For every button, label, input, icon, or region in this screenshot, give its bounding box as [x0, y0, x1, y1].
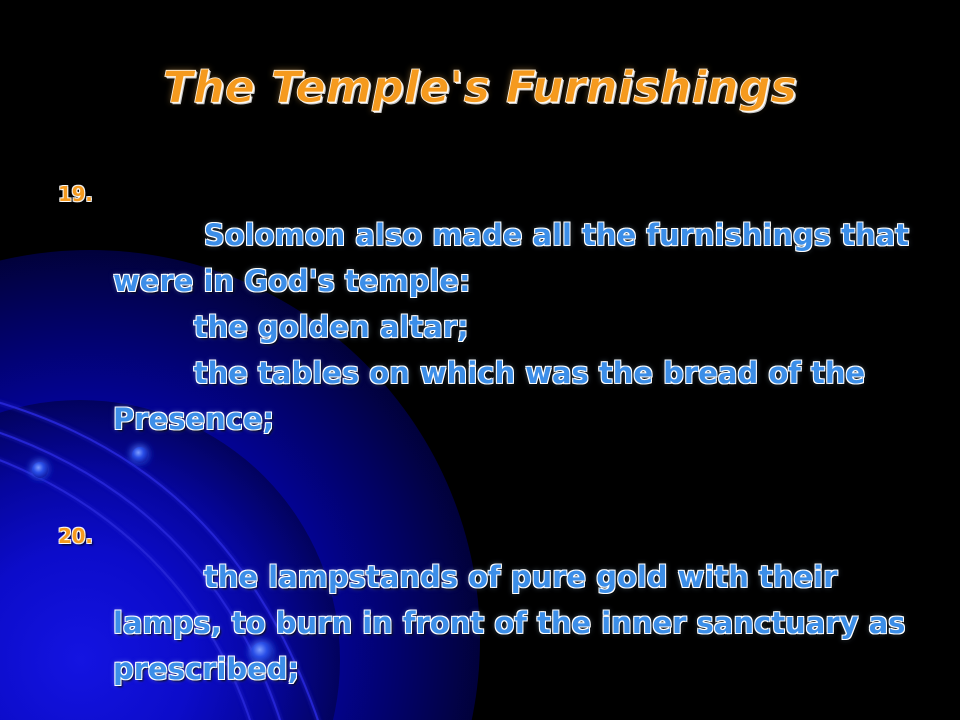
verse-text: the lampstands of pure gold with their l… [113, 560, 916, 686]
verse-number: 19. [58, 171, 93, 217]
verse-number: 20. [58, 513, 93, 559]
verse-paragraph: 20. the lampstands of pure gold with the… [52, 508, 912, 720]
slide-title: The Temple's Furnishings [0, 62, 960, 113]
verse-text: Solomon also made all the furnishings th… [113, 218, 919, 436]
arc-node-left [32, 462, 48, 478]
verse-paragraph: 19. Solomon also made all the furnishing… [52, 166, 912, 488]
presentation-slide: The Temple's Furnishings 19. Solomon als… [0, 0, 960, 720]
slide-body: 19. Solomon also made all the furnishing… [52, 166, 912, 720]
